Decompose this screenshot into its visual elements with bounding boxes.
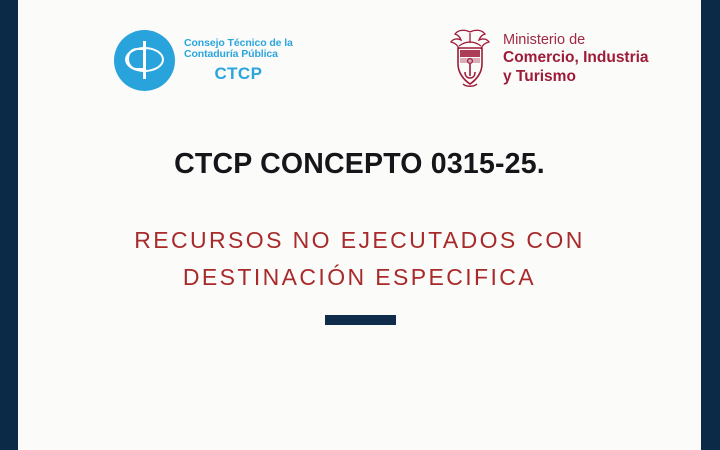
ministry-logo-lockup: Ministerio de Comercio, Industria y Turi… [447,28,649,90]
ctcp-logo-lockup: Consejo Técnico de la Contaduría Pública… [114,30,293,91]
colombia-coat-of-arms-icon [447,28,493,90]
ctcp-acronym: CTCP [184,64,293,83]
page-subtitle-line-1: RECURSOS NO EJECUTADOS CON [18,222,701,259]
ministry-logo-text: Ministerio de Comercio, Industria y Turi… [503,32,649,86]
slide-canvas: Consejo Técnico de la Contaduría Pública… [0,0,720,450]
ctcp-name-line-2: Contaduría Pública [184,49,293,61]
ctcp-stem-shape [143,41,146,79]
ministry-line-2: Comercio, Industria [503,49,649,67]
ministry-line-3: y Turismo [503,68,649,86]
logo-band: Consejo Técnico de la Contaduría Pública… [0,0,720,115]
ctcp-logo-text: Consejo Técnico de la Contaduría Pública… [184,38,293,84]
ministry-line-1: Ministerio de [503,32,649,49]
ctcp-monogram-icon [114,30,175,91]
page-subtitle: RECURSOS NO EJECUTADOS CON DESTINACIÓN E… [18,222,701,297]
title-divider-bar [325,315,396,325]
page-title: CTCP CONCEPTO 0315-25. [18,148,701,181]
page-subtitle-line-2: DESTINACIÓN ESPECIFICA [18,259,701,296]
